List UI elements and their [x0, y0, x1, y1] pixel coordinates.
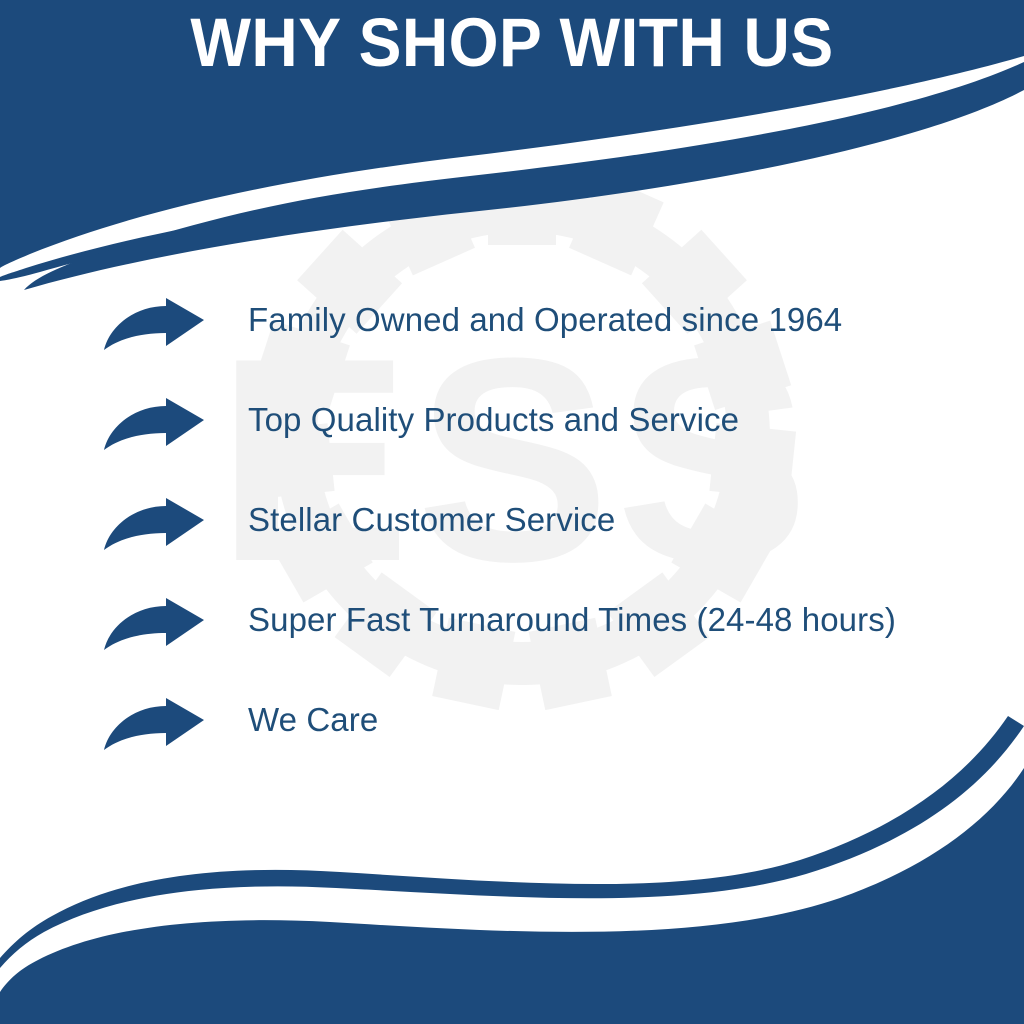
list-item-label: Family Owned and Operated since 1964 [248, 300, 984, 340]
top-blue-sliver [24, 62, 1024, 290]
list-item: Super Fast Turnaround Times (24-48 hours… [104, 596, 984, 696]
list-item: Stellar Customer Service [104, 496, 984, 596]
curved-right-arrow-icon [104, 398, 208, 458]
list-item-label: Stellar Customer Service [248, 500, 984, 540]
list-item-label: Top Quality Products and Service [248, 400, 984, 440]
bottom-footer-shape [0, 768, 1024, 1024]
benefits-list: Family Owned and Operated since 1964 Top… [104, 296, 984, 796]
curved-right-arrow-icon [104, 698, 208, 758]
curved-right-arrow-icon [104, 298, 208, 358]
curved-right-arrow-icon [104, 598, 208, 658]
list-item-label: We Care [248, 700, 984, 740]
list-item: Family Owned and Operated since 1964 [104, 296, 984, 396]
list-item: We Care [104, 696, 984, 796]
list-item-label: Super Fast Turnaround Times (24-48 hours… [248, 600, 984, 640]
page-title: WHY SHOP WITH US [36, 8, 988, 77]
curved-right-arrow-icon [104, 498, 208, 558]
promo-banner: ESS WHY SHOP WITH US Family Owned and Op… [0, 0, 1024, 1024]
list-item: Top Quality Products and Service [104, 396, 984, 496]
top-white-swoosh [0, 56, 1024, 277]
